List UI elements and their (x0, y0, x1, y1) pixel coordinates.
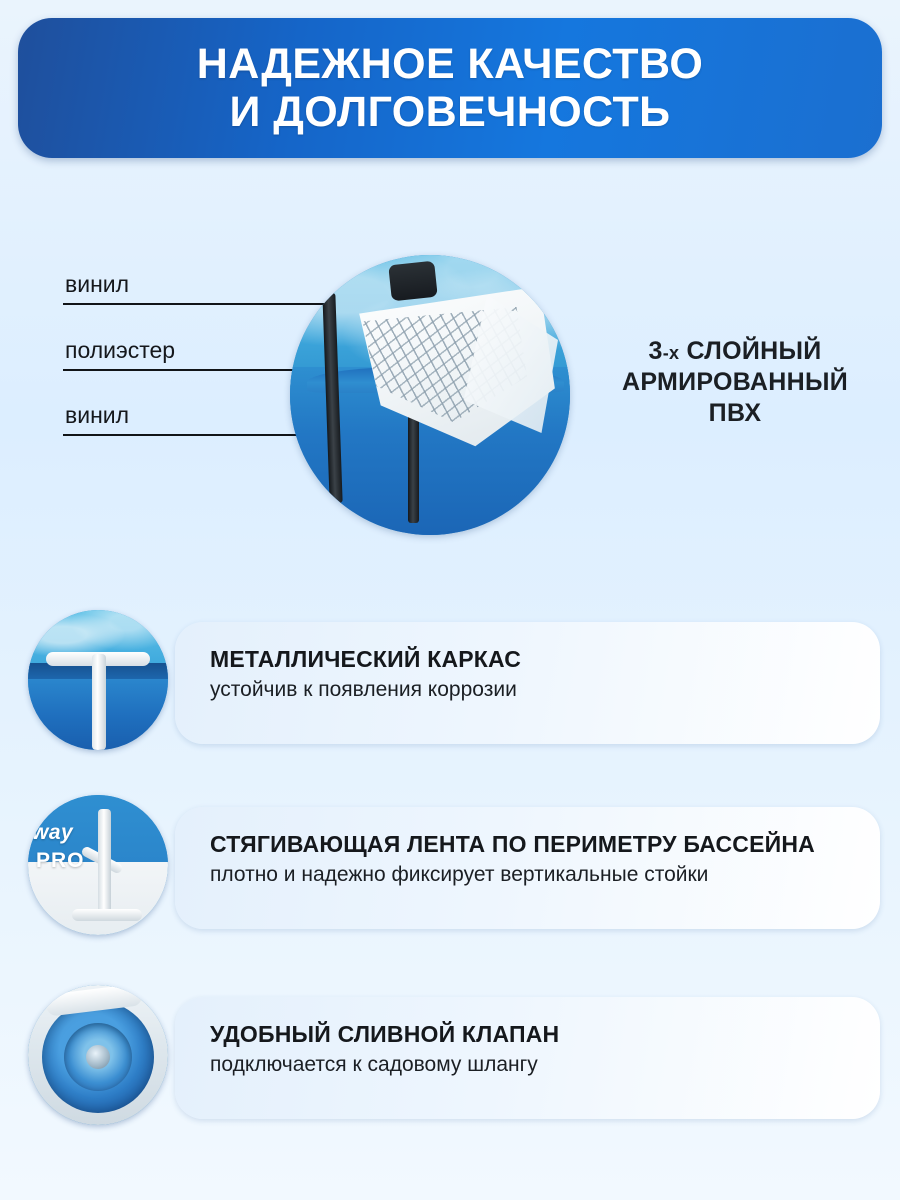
thumb2-foot (72, 909, 142, 921)
feature-text-2: СТЯГИВАЮЩАЯ ЛЕНТА ПО ПЕРИМЕТРУ БАССЕЙНА … (210, 831, 900, 887)
thumb3-valve-core (86, 1045, 110, 1069)
feature-subtitle-2: плотно и надежно фиксирует вертикальные … (210, 863, 900, 887)
feature-title-1: МЕТАЛЛИЧЕСКИЙ КАРКАС (210, 646, 900, 673)
pvc-caption-number: 3 (648, 337, 662, 365)
feature-row-drain-valve: УДОБНЫЙ СЛИВНОЙ КЛАПАН подключается к са… (20, 985, 880, 1135)
thumb2-leg (98, 809, 111, 917)
feature-thumb-metal-frame (28, 610, 168, 750)
feature-title-2: СТЯГИВАЮЩАЯ ЛЕНТА ПО ПЕРИМЕТРУ БАССЕЙНА (210, 831, 900, 858)
feature-text-1: МЕТАЛЛИЧЕСКИЙ КАРКАС устойчив к появлени… (210, 646, 900, 702)
thumb2-logo-top: way (32, 821, 73, 845)
feature-subtitle-3: подключается к садовому шлангу (210, 1053, 900, 1077)
feature-thumb-strap: way PRO (28, 795, 168, 935)
feature-row-strap: way PRO СТЯГИВАЮЩАЯ ЛЕНТА ПО ПЕРИМЕТРУ Б… (20, 795, 880, 945)
feature-thumb-drain-valve (28, 985, 168, 1125)
pvc-closeup-photo (290, 255, 570, 535)
layer-label-vinyl-top: винил (65, 271, 129, 298)
photo-frame-clip (388, 261, 438, 302)
pvc-layers-section: винил полиэстер винил 3-х СЛОЙНЫЙ АРМИРО… (0, 245, 900, 545)
thumb1-vertical-tube (92, 654, 106, 750)
pvc-caption: 3-х СЛОЙНЫЙ АРМИРОВАННЫЙ ПВХ (585, 305, 885, 429)
feature-subtitle-1: устойчив к появления коррозии (210, 678, 900, 702)
layer-label-vinyl-bottom: винил (65, 402, 129, 429)
page-title: НАДЕЖНОЕ КАЧЕСТВО И ДОЛГОВЕЧНОСТЬ (197, 40, 703, 136)
thumb2-logo-bottom: PRO (36, 849, 85, 873)
pvc-caption-suffix: -х (663, 343, 680, 363)
feature-text-3: УДОБНЫЙ СЛИВНОЙ КЛАПАН подключается к са… (210, 1021, 900, 1077)
feature-row-metal-frame: МЕТАЛЛИЧЕСКИЙ КАРКАС устойчив к появлени… (20, 610, 880, 760)
layer-label-polyester: полиэстер (65, 337, 175, 364)
header-banner: НАДЕЖНОЕ КАЧЕСТВО И ДОЛГОВЕЧНОСТЬ (18, 18, 882, 158)
feature-title-3: УДОБНЫЙ СЛИВНОЙ КЛАПАН (210, 1021, 900, 1048)
